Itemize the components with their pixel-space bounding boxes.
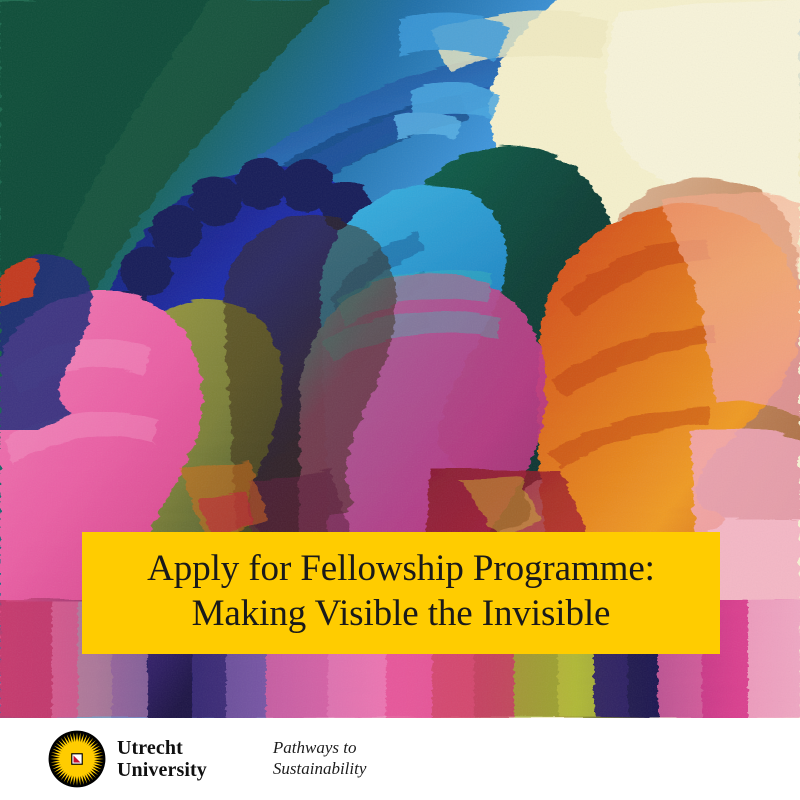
footer-bar: Utrecht University Pathways to Sustainab… (0, 718, 800, 800)
wordmark-line-2: University (117, 759, 207, 781)
wordmark-line-1: Utrecht (117, 737, 207, 759)
title-line-2: Making Visible the Invisible (192, 591, 611, 636)
title-banner: Apply for Fellowship Programme: Making V… (82, 532, 720, 654)
poster-root: Apply for Fellowship Programme: Making V… (0, 0, 800, 800)
title-line-1: Apply for Fellowship Programme: (147, 546, 655, 591)
utrecht-university-wordmark: Utrecht University (117, 737, 207, 782)
utrecht-university-logo: Utrecht University (48, 730, 207, 788)
tagline-line-2: Sustainability (273, 759, 367, 780)
pathways-to-sustainability-tagline: Pathways to Sustainability (273, 738, 367, 779)
tagline-line-1: Pathways to (273, 738, 367, 759)
utrecht-university-sun-emblem (48, 730, 106, 788)
